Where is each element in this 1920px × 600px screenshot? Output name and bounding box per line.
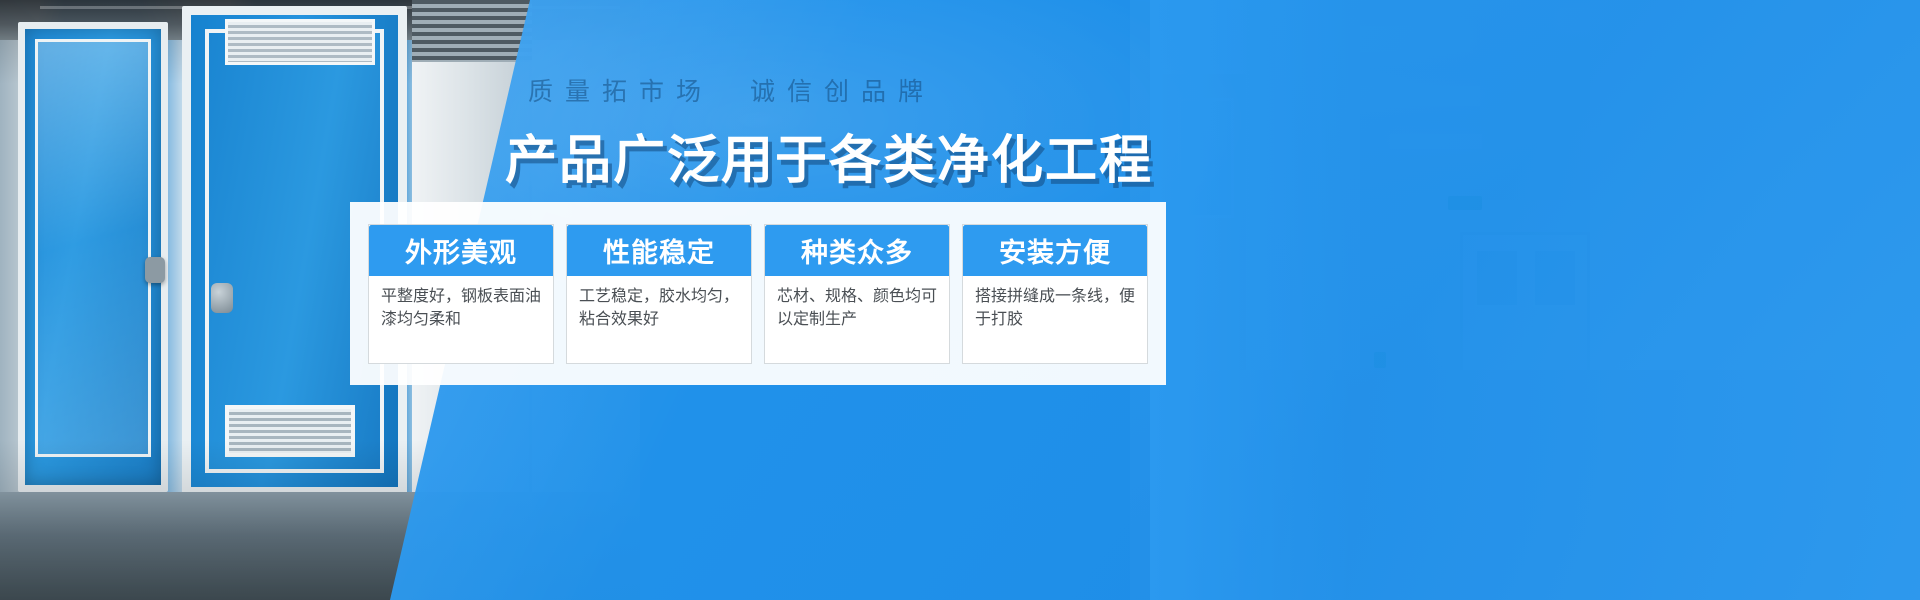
feature-cards-panel: 外形美观 平整度好，钢板表面油漆均匀柔和 性能稳定 工艺稳定，胶水均匀，粘合效果… (350, 202, 1166, 385)
feature-card[interactable]: 性能稳定 工艺稳定，胶水均匀，粘合效果好 (566, 224, 752, 364)
overlay-right-fade (1150, 0, 1350, 600)
portable-cabin-glass (18, 22, 168, 492)
feature-card-title: 安装方便 (962, 224, 1148, 276)
feature-card[interactable]: 安装方便 搭接拼缝成一条线，便于打胶 (962, 224, 1148, 364)
feature-card-title: 外形美观 (368, 224, 554, 276)
banner-headline: 产品广泛用于各类净化工程 (505, 118, 1153, 193)
banner-subtitle: 质量拓市场 诚信创品牌 (528, 72, 935, 108)
feature-card[interactable]: 外形美观 平整度好，钢板表面油漆均匀柔和 (368, 224, 554, 364)
feature-card-title: 种类众多 (764, 224, 950, 276)
promo-banner: 质量拓市场 诚信创品牌 产品广泛用于各类净化工程 外形美观 平整度好，钢板表面油… (0, 0, 1920, 600)
feature-card-body: 搭接拼缝成一条线，便于打胶 (963, 276, 1147, 363)
feature-card-title: 性能稳定 (566, 224, 752, 276)
feature-card-body: 工艺稳定，胶水均匀，粘合效果好 (567, 276, 751, 363)
feature-card-body: 平整度好，钢板表面油漆均匀柔和 (369, 276, 553, 363)
feature-card[interactable]: 种类众多 芯材、规格、颜色均可以定制生产 (764, 224, 950, 364)
feature-card-body: 芯材、规格、颜色均可以定制生产 (765, 276, 949, 363)
